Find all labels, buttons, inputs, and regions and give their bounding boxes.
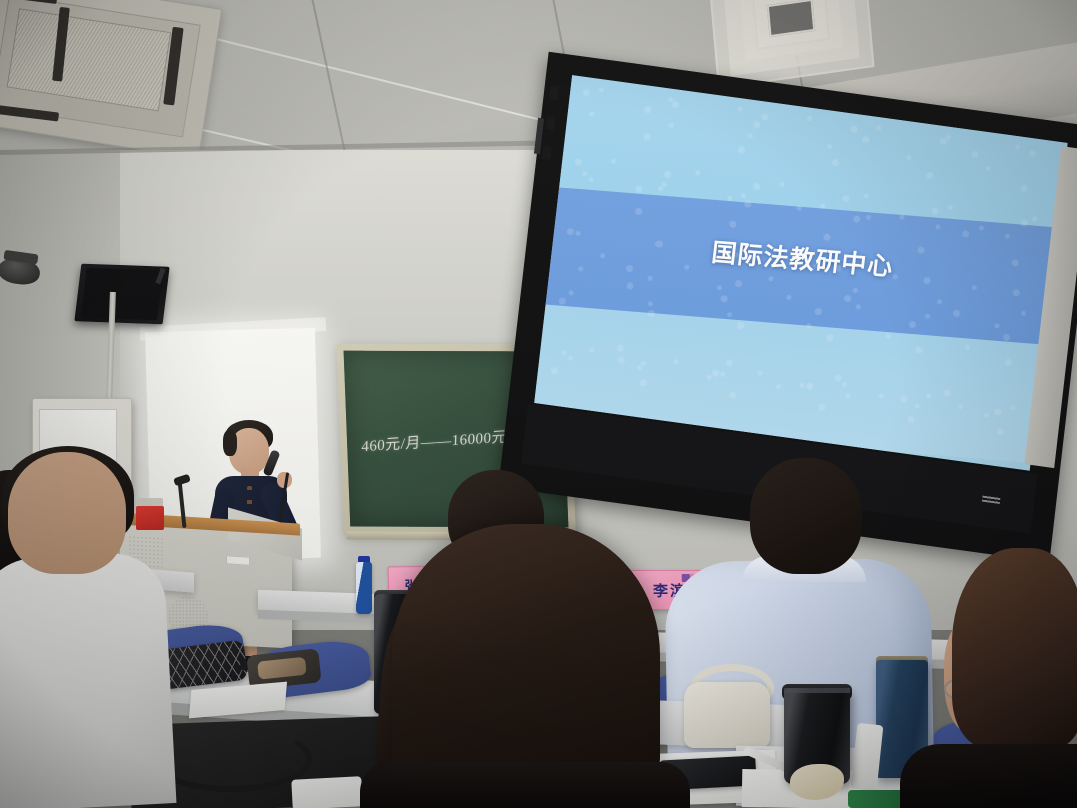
wall-speaker-icon <box>74 264 169 325</box>
student-with-glasses-hair <box>952 548 1077 748</box>
student-head <box>750 458 862 574</box>
presenter-hair-side <box>223 430 237 456</box>
classroom-photo-scene: 460元/月——16000元/月 国际法教研中心 <box>0 0 1077 808</box>
student-body <box>360 762 690 808</box>
white-box <box>291 776 362 808</box>
slide-surface: 国际法教研中心 <box>534 75 1067 471</box>
student-body <box>900 744 1077 808</box>
podium-label-plate <box>226 555 250 566</box>
red-tissue-box <box>136 506 164 530</box>
student-head <box>8 452 126 574</box>
water-bottle <box>356 562 372 614</box>
student-white-tshirt <box>0 551 176 808</box>
white-handbag <box>684 682 770 748</box>
